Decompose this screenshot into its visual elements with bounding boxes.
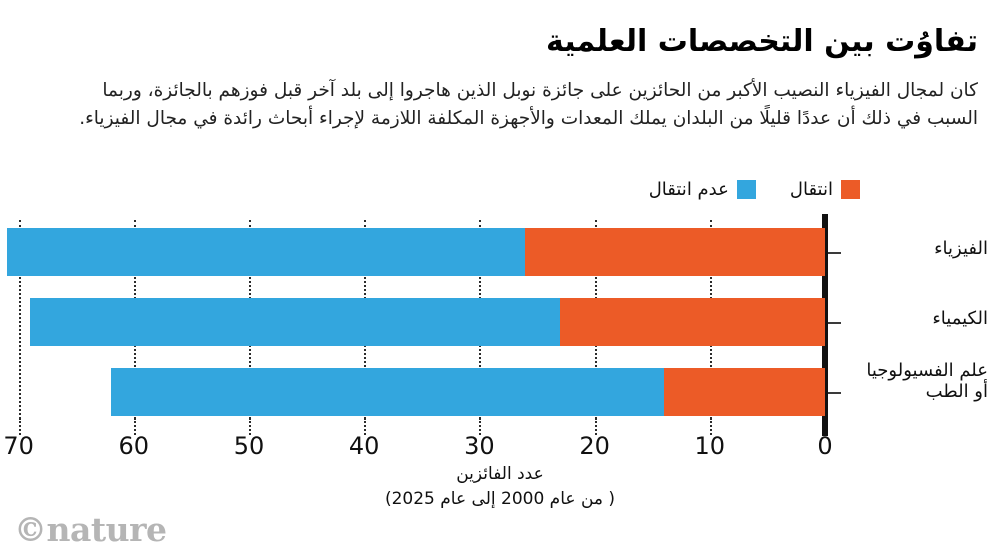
bar-row[interactable] bbox=[7, 228, 825, 276]
bar-segment-not-migrated[interactable] bbox=[30, 298, 560, 346]
x-axis-caption-line1: عدد الفائزين bbox=[0, 462, 1000, 487]
bar-row[interactable] bbox=[30, 298, 825, 346]
x-axis-tick-label-10: 10 bbox=[695, 432, 726, 460]
x-axis-tick-label-70: 70 bbox=[3, 432, 34, 460]
x-axis-tick-label-0: 0 bbox=[817, 432, 832, 460]
bar-segment-migrated[interactable] bbox=[560, 298, 825, 346]
y-axis-label-1: الفيزياء bbox=[848, 238, 988, 259]
y-axis-tick bbox=[828, 322, 841, 324]
bar-segment-not-migrated[interactable] bbox=[111, 368, 664, 416]
x-axis-tick-20 bbox=[595, 418, 597, 427]
bar-segment-migrated[interactable] bbox=[664, 368, 825, 416]
legend-label-not-migrated: عدم انتقال bbox=[649, 181, 729, 199]
x-axis-tick-70 bbox=[19, 418, 21, 427]
x-axis-caption: عدد الفائزين ( من عام 2000 إلى عام 2025) bbox=[0, 462, 1000, 511]
x-axis-tick-30 bbox=[479, 418, 481, 427]
nature-logo: ©nature bbox=[14, 510, 167, 549]
bar-segment-migrated[interactable] bbox=[525, 228, 825, 276]
x-axis-tick-60 bbox=[134, 418, 136, 427]
bar-segment-not-migrated[interactable] bbox=[7, 228, 525, 276]
chart-legend: انتقال عدم انتقال bbox=[649, 180, 860, 199]
legend-swatch-orange bbox=[841, 180, 860, 199]
page-title: تفاوُت بين التخصصات العلمية bbox=[546, 24, 978, 59]
legend-label-migrated: انتقال bbox=[790, 181, 833, 199]
x-axis-tick-label-50: 50 bbox=[234, 432, 265, 460]
y-axis-tick bbox=[828, 392, 841, 394]
x-axis-tick-label-30: 30 bbox=[464, 432, 495, 460]
chart-page: تفاوُت بين التخصصات العلمية كان لمجال ال… bbox=[0, 0, 1000, 559]
x-axis-tick-50 bbox=[249, 418, 251, 427]
y-axis-label-2: الكيمياء bbox=[848, 308, 988, 329]
x-axis-tick-40 bbox=[364, 418, 366, 427]
bar-row[interactable] bbox=[111, 368, 825, 416]
x-axis-tick-label-40: 40 bbox=[349, 432, 380, 460]
legend-item-not-migrated[interactable]: عدم انتقال bbox=[649, 180, 756, 199]
legend-item-migrated[interactable]: انتقال bbox=[790, 180, 860, 199]
y-axis-label-3: علم الفسيولوجيا أو الطب bbox=[848, 360, 988, 402]
x-axis-caption-line2: ( من عام 2000 إلى عام 2025) bbox=[0, 487, 1000, 512]
page-subtitle: كان لمجال الفيزياء النصيب الأكبر من الحا… bbox=[48, 77, 978, 134]
x-axis-tick-label-20: 20 bbox=[579, 432, 610, 460]
x-axis-tick-label-60: 60 bbox=[119, 432, 150, 460]
plot-area: الفيزياءالكيمياءعلم الفسيولوجيا أو الطب bbox=[0, 220, 1000, 435]
x-axis-tick-10 bbox=[710, 418, 712, 427]
legend-swatch-blue bbox=[737, 180, 756, 199]
y-axis-tick bbox=[828, 252, 841, 254]
